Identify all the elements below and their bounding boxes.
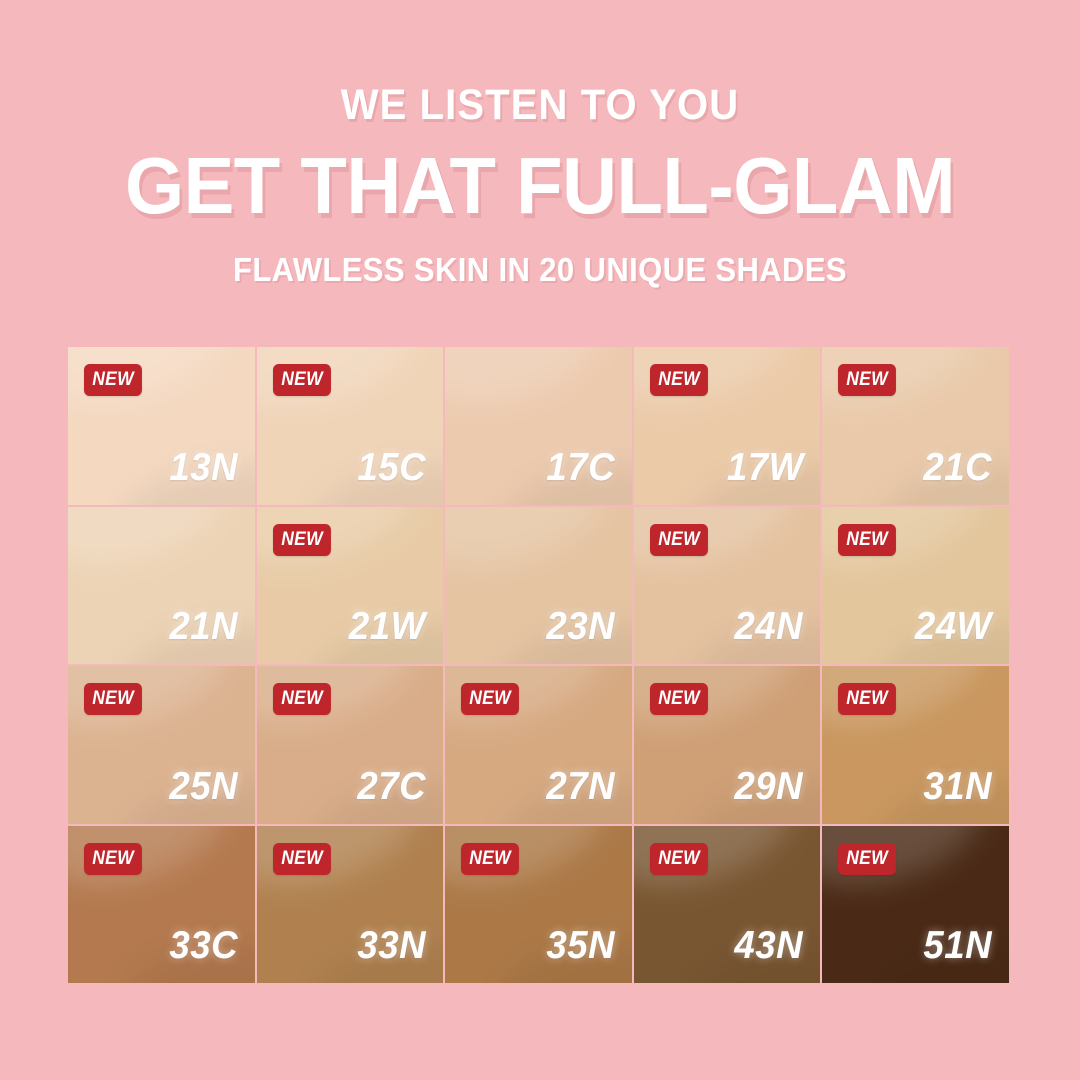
shade-code-label: 29N xyxy=(735,767,804,806)
headline-block: WE LISTEN TO YOU GET THAT FULL-GLAM FLAW… xyxy=(0,84,1080,288)
new-badge: NEW xyxy=(838,364,896,396)
shade-code-label: 51N xyxy=(923,926,992,965)
page-title: GET THAT FULL-GLAM xyxy=(27,144,1053,227)
shade-swatch-grid: NEW13NNEW15CNEW17CNEW17WNEW21CNEW21NNEW2… xyxy=(68,347,1009,983)
shade-swatch[interactable]: NEW51N xyxy=(822,826,1009,984)
new-badge: NEW xyxy=(273,683,331,715)
eyebrow-text: WE LISTEN TO YOU xyxy=(38,84,1042,128)
shade-code-label: 33N xyxy=(358,926,427,965)
new-badge: NEW xyxy=(838,683,896,715)
new-badge: NEW xyxy=(84,843,142,875)
shade-code-label: 35N xyxy=(546,926,615,965)
shade-swatch[interactable]: NEW29N xyxy=(634,666,821,824)
new-badge: NEW xyxy=(650,364,708,396)
shade-swatch[interactable]: NEW21N xyxy=(68,507,255,665)
shade-swatch[interactable]: NEW24W xyxy=(822,507,1009,665)
shade-code-label: 15C xyxy=(358,448,427,487)
shade-code-label: 21N xyxy=(169,607,238,646)
swatch-texture-highlight xyxy=(445,347,619,427)
shade-code-label: 13N xyxy=(169,448,238,487)
shade-code-label: 33C xyxy=(169,926,238,965)
shade-swatch[interactable]: NEW17C xyxy=(445,347,632,505)
shade-swatch[interactable]: NEW25N xyxy=(68,666,255,824)
shade-swatch[interactable]: NEW27N xyxy=(445,666,632,824)
shade-code-label: 43N xyxy=(735,926,804,965)
new-badge: NEW xyxy=(461,683,519,715)
new-badge: NEW xyxy=(273,364,331,396)
shade-code-label: 17W xyxy=(727,448,804,487)
new-badge: NEW xyxy=(650,524,708,556)
shade-code-label: 24N xyxy=(735,607,804,646)
subheadline-text: FLAWLESS SKIN IN 20 UNIQUE SHADES xyxy=(32,253,1047,288)
shade-code-label: 27N xyxy=(546,767,615,806)
shade-code-label: 23N xyxy=(546,607,615,646)
new-badge: NEW xyxy=(273,524,331,556)
shade-code-label: 21W xyxy=(349,607,426,646)
new-badge: NEW xyxy=(84,683,142,715)
shade-code-label: 31N xyxy=(923,767,992,806)
new-badge: NEW xyxy=(650,683,708,715)
shade-swatch[interactable]: NEW15C xyxy=(257,347,444,505)
new-badge: NEW xyxy=(650,843,708,875)
new-badge: NEW xyxy=(838,843,896,875)
shade-swatch[interactable]: NEW21W xyxy=(257,507,444,665)
shade-code-label: 25N xyxy=(169,767,238,806)
shade-code-label: 21C xyxy=(923,448,992,487)
new-badge: NEW xyxy=(838,524,896,556)
shade-range-poster: WE LISTEN TO YOU GET THAT FULL-GLAM FLAW… xyxy=(0,0,1080,1080)
shade-swatch[interactable]: NEW17W xyxy=(634,347,821,505)
shade-swatch[interactable]: NEW13N xyxy=(68,347,255,505)
shade-swatch[interactable]: NEW21C xyxy=(822,347,1009,505)
shade-swatch[interactable]: NEW35N xyxy=(445,826,632,984)
new-badge: NEW xyxy=(461,843,519,875)
shade-code-label: 24W xyxy=(915,607,992,646)
shade-swatch[interactable]: NEW33N xyxy=(257,826,444,984)
shade-swatch[interactable]: NEW31N xyxy=(822,666,1009,824)
shade-swatch[interactable]: NEW23N xyxy=(445,507,632,665)
shade-swatch[interactable]: NEW27C xyxy=(257,666,444,824)
swatch-texture-highlight xyxy=(68,507,242,587)
new-badge: NEW xyxy=(273,843,331,875)
shade-code-label: 27C xyxy=(358,767,427,806)
shade-code-label: 17C xyxy=(546,448,615,487)
new-badge: NEW xyxy=(84,364,142,396)
shade-swatch[interactable]: NEW24N xyxy=(634,507,821,665)
shade-swatch[interactable]: NEW33C xyxy=(68,826,255,984)
swatch-texture-highlight xyxy=(445,507,619,587)
shade-swatch[interactable]: NEW43N xyxy=(634,826,821,984)
